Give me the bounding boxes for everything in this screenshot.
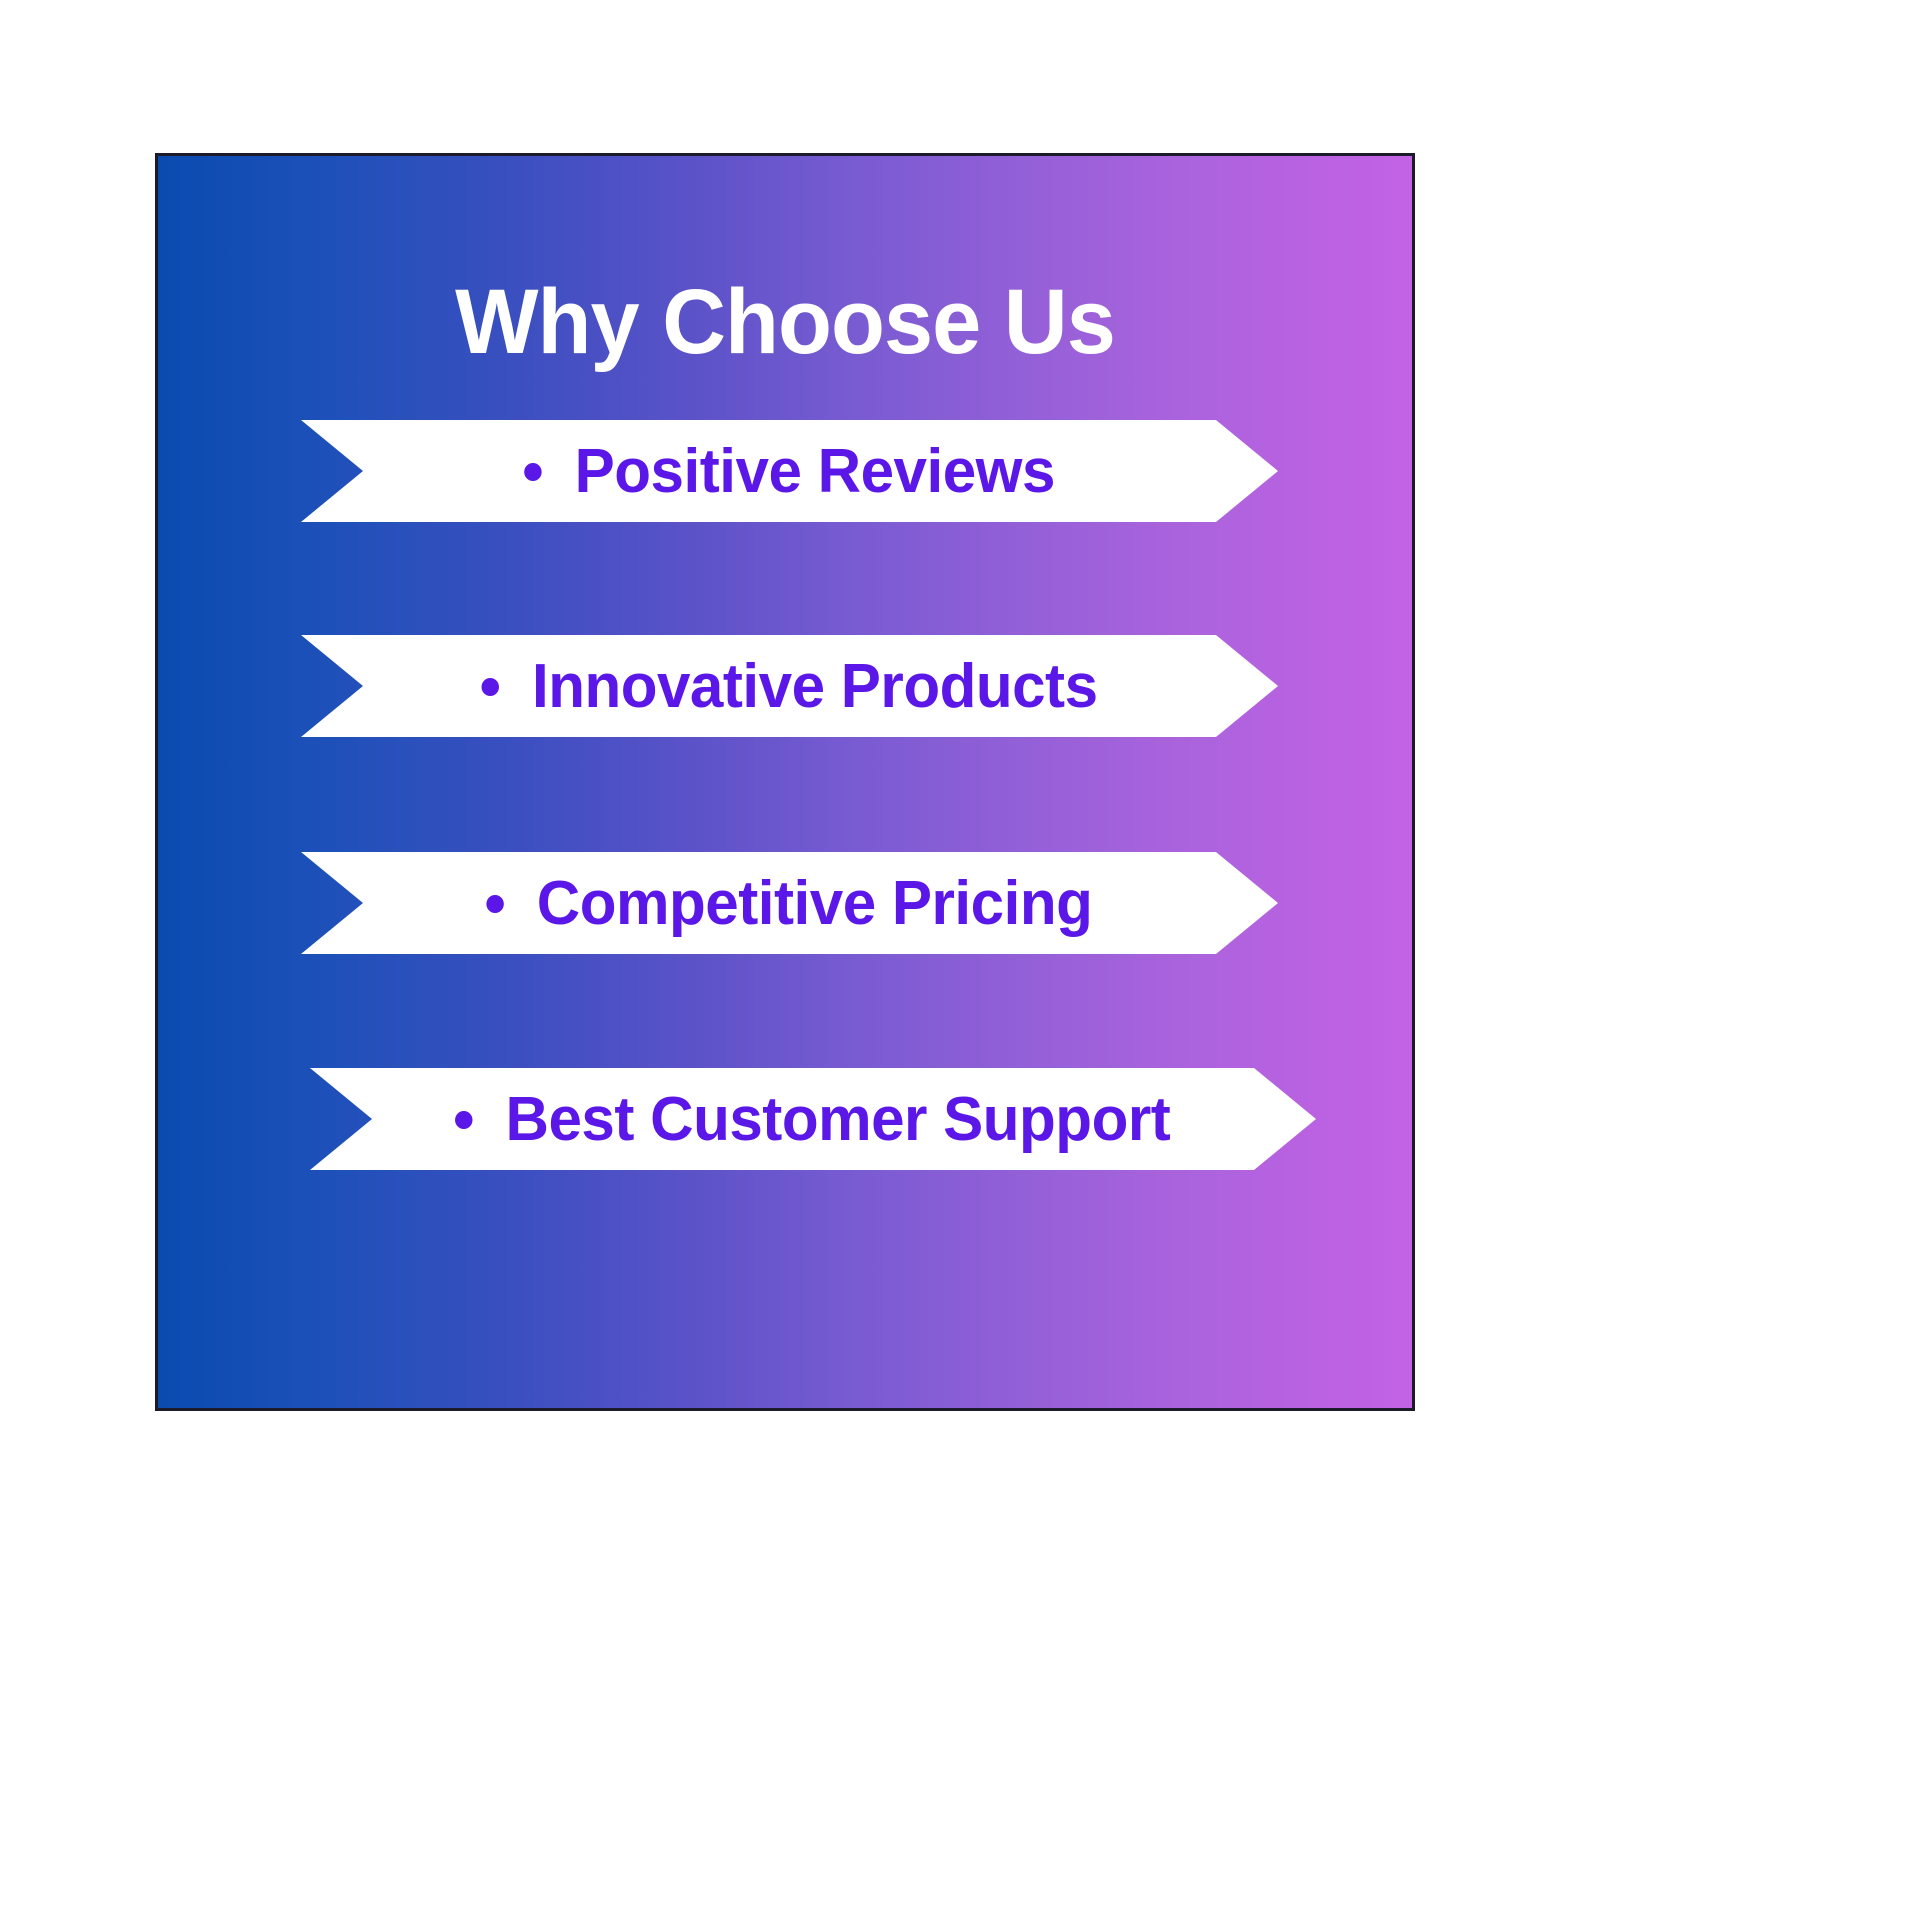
bullet-dot-icon xyxy=(487,895,504,913)
ribbon-content: Best Customer Support xyxy=(455,1084,1170,1155)
bullet-dot-icon xyxy=(455,1111,472,1129)
list-item[interactable]: Innovative Products xyxy=(301,635,1278,737)
bullet-dot-icon xyxy=(524,463,541,481)
ribbon-content: Innovative Products xyxy=(481,651,1097,722)
bullet-dot-icon xyxy=(481,678,498,696)
list-item-label: Best Customer Support xyxy=(506,1084,1171,1155)
list-item[interactable]: Positive Reviews xyxy=(301,420,1278,522)
why-choose-us-panel: Why Choose Us Positive Reviews Innovativ… xyxy=(155,153,1415,1411)
benefits-ribbon-list: Positive Reviews Innovative Products Com… xyxy=(158,156,1412,1408)
slide-canvas: Why Choose Us Positive Reviews Innovativ… xyxy=(0,0,1920,1920)
ribbon-content: Competitive Pricing xyxy=(487,868,1093,939)
list-item[interactable]: Best Customer Support xyxy=(310,1068,1316,1170)
ribbon-content: Positive Reviews xyxy=(524,436,1055,507)
list-item[interactable]: Competitive Pricing xyxy=(301,852,1278,954)
list-item-label: Positive Reviews xyxy=(575,436,1055,507)
list-item-label: Innovative Products xyxy=(532,651,1098,722)
list-item-label: Competitive Pricing xyxy=(537,868,1093,939)
